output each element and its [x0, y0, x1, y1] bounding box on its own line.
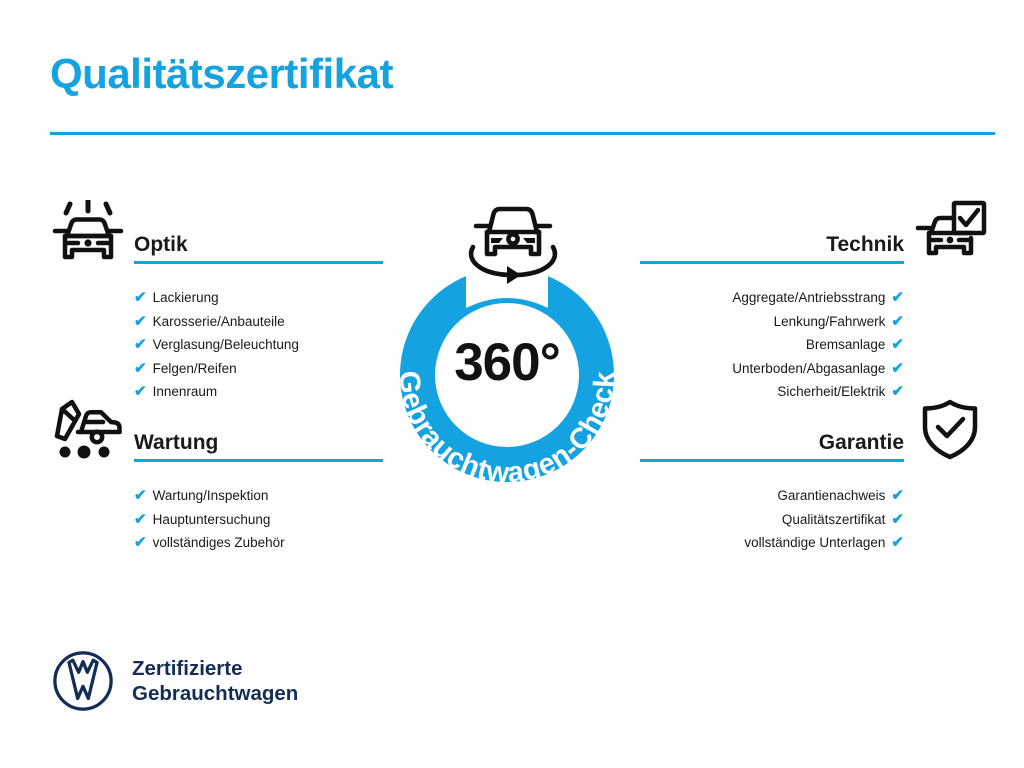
list-item-label: Garantienachweis: [777, 484, 885, 508]
check-icon: ✔: [134, 290, 147, 305]
check-icon: ✔: [891, 290, 904, 305]
vw-logo-line1: Zertifizierte: [132, 656, 298, 681]
car-shine-icon: [48, 200, 128, 266]
shield-check-icon: [910, 398, 990, 464]
section-garantie-list: Garantienachweis✔ Qualitätszertifikat✔ v…: [640, 484, 990, 555]
section-technik-header: Technik: [640, 200, 990, 272]
badge-center-label: 360°: [374, 336, 640, 389]
list-item: ✔Karosserie/Anbauteile: [134, 310, 383, 334]
list-item-label: Unterboden/Abgasanlage: [732, 357, 885, 381]
list-item-label: Wartung/Inspektion: [153, 484, 269, 508]
list-item: ✔Hauptuntersuchung: [134, 508, 383, 532]
list-item: ✔Verglasung/Beleuchtung: [134, 333, 383, 357]
check-icon: ✔: [891, 361, 904, 376]
list-item-label: Verglasung/Beleuchtung: [153, 333, 299, 357]
section-optik-title: Optik: [134, 234, 383, 261]
list-item-label: Lackierung: [153, 286, 219, 310]
section-wartung-header: Wartung: [48, 398, 383, 470]
list-item-label: Karosserie/Anbauteile: [153, 310, 285, 334]
vw-logo-icon: [52, 650, 114, 712]
list-item: Garantienachweis✔: [640, 484, 904, 508]
list-item-label: Hauptuntersuchung: [153, 508, 271, 532]
check-icon: ✔: [891, 488, 904, 503]
list-item: ✔Wartung/Inspektion: [134, 484, 383, 508]
list-item-label: Bremsanlage: [806, 333, 886, 357]
check-icon: ✔: [134, 361, 147, 376]
section-technik-title-wrap: Technik: [640, 234, 904, 264]
section-garantie-title-wrap: Garantie: [640, 432, 904, 462]
vw-logo: Zertifizierte Gebrauchtwagen: [52, 650, 298, 712]
section-optik-header: Optik: [48, 200, 383, 272]
list-item: Qualitätszertifikat✔: [640, 508, 904, 532]
list-item: Lenkung/Fahrwerk✔: [640, 310, 904, 334]
list-item: ✔Felgen/Reifen: [134, 357, 383, 381]
list-item-label: Qualitätszertifikat: [782, 508, 886, 532]
vw-logo-line2: Gebrauchtwagen: [132, 681, 298, 706]
check-icon: ✔: [134, 314, 147, 329]
list-item-label: Felgen/Reifen: [153, 357, 237, 381]
check-icon: ✔: [134, 384, 147, 399]
car-checkbox-icon: [910, 200, 990, 266]
vw-logo-text: Zertifizierte Gebrauchtwagen: [132, 656, 298, 706]
section-garantie-header: Garantie: [640, 398, 990, 470]
section-wartung-title: Wartung: [134, 432, 383, 459]
list-item: ✔Lackierung: [134, 286, 383, 310]
section-garantie: Garantie Garantienachweis✔ Qualitätszert…: [640, 398, 990, 555]
section-garantie-underline: [640, 459, 904, 462]
list-item: Unterboden/Abgasanlage✔: [640, 357, 904, 381]
section-optik-underline: [134, 261, 383, 264]
section-wartung-underline: [134, 459, 383, 462]
check-icon: ✔: [891, 337, 904, 352]
list-item-label: Aggregate/Antriebsstrang: [732, 286, 885, 310]
list-item: ✔vollständiges Zubehör: [134, 531, 383, 555]
check-icon: ✔: [134, 337, 147, 352]
list-item-label: vollständige Unterlagen: [744, 531, 885, 555]
check-icon: ✔: [134, 512, 147, 527]
certificate-page: Qualitätszertifikat: [0, 0, 1024, 768]
check-icon: ✔: [134, 488, 147, 503]
section-garantie-title: Garantie: [640, 432, 904, 459]
list-item: Aggregate/Antriebsstrang✔: [640, 286, 904, 310]
badge-360-gebrauchtwagen-check: Gebrauchtwagen-Check 360°: [374, 192, 652, 482]
service-book-pen-car-icon: [48, 398, 128, 464]
section-technik: Technik Aggregate/Antriebsstrang✔ Lenkun…: [640, 200, 990, 404]
list-item-label: Lenkung/Fahrwerk: [774, 310, 886, 334]
section-technik-underline: [640, 261, 904, 264]
section-technik-list: Aggregate/Antriebsstrang✔ Lenkung/Fahrwe…: [640, 286, 990, 404]
check-icon: ✔: [134, 535, 147, 550]
check-icon: ✔: [891, 384, 904, 399]
check-icon: ✔: [891, 512, 904, 527]
list-item-label: vollständiges Zubehör: [153, 531, 285, 555]
section-optik-title-wrap: Optik: [134, 234, 383, 264]
section-wartung-list: ✔Wartung/Inspektion ✔Hauptuntersuchung ✔…: [48, 484, 383, 555]
title-divider: [50, 132, 995, 135]
section-optik-list: ✔Lackierung ✔Karosserie/Anbauteile ✔Verg…: [48, 286, 383, 404]
list-item: Bremsanlage✔: [640, 333, 904, 357]
section-wartung-title-wrap: Wartung: [134, 432, 383, 462]
page-title: Qualitätszertifikat: [50, 52, 393, 96]
section-wartung: Wartung ✔Wartung/Inspektion ✔Hauptunters…: [48, 398, 383, 555]
section-technik-title: Technik: [640, 234, 904, 261]
list-item: vollständige Unterlagen✔: [640, 531, 904, 555]
car-rotation-icon: [459, 192, 567, 288]
check-icon: ✔: [891, 314, 904, 329]
section-optik: Optik ✔Lackierung ✔Karosserie/Anbauteile…: [48, 200, 383, 404]
check-icon: ✔: [891, 535, 904, 550]
